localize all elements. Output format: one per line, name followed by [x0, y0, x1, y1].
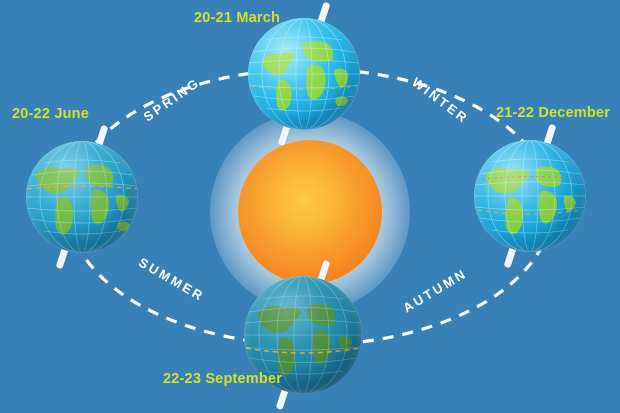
date-label-june: 20-22 June	[12, 106, 89, 122]
sun	[238, 140, 382, 284]
date-label-december: 21-22 December	[496, 105, 610, 121]
globe-december	[474, 140, 586, 252]
globe-june	[26, 141, 138, 253]
globe-march	[248, 18, 360, 130]
date-label-march: 20-21 March	[194, 10, 280, 26]
seasons-diagram: 20-21 March	[0, 0, 620, 413]
date-label-september: 22-23 September	[163, 371, 282, 387]
